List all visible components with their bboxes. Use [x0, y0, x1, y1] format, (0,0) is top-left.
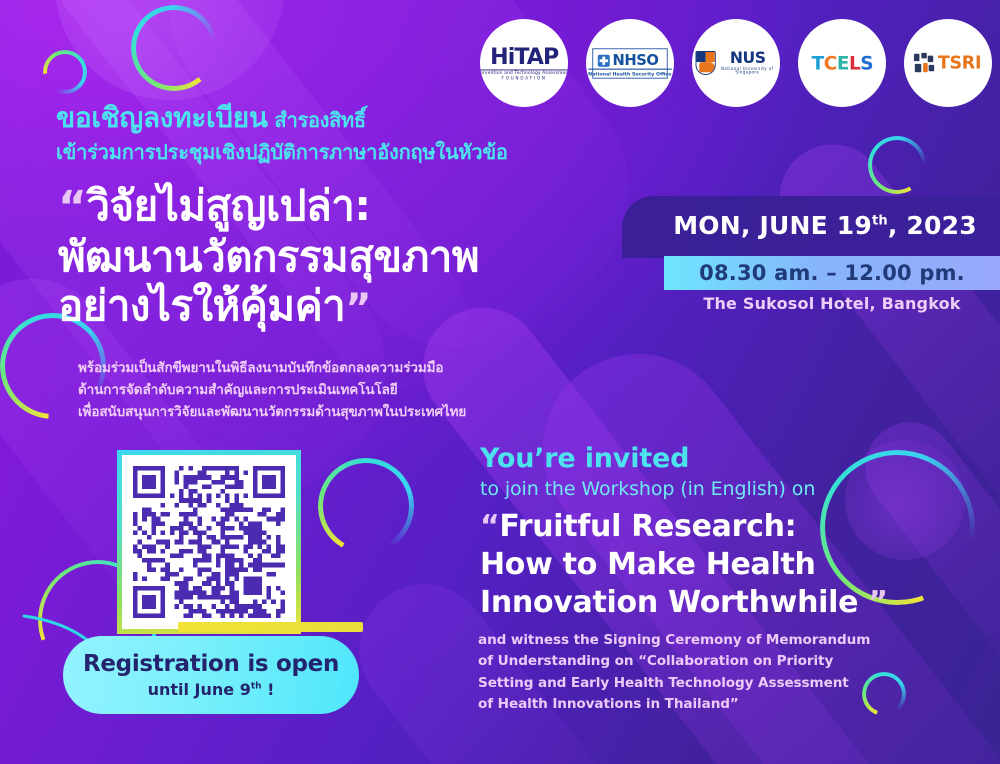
english-para-line3: Setting and Early Health Technology Asse…: [478, 673, 870, 694]
poster-canvas: HiTAP Health Intervention and Technology…: [0, 0, 1000, 764]
thai-para-line2: ด้านการจัดลำดับความสำคัญและการประเมินเทค…: [78, 380, 466, 402]
decorative-ring: [868, 136, 926, 194]
english-para-line2: of Understanding on “Collaboration on Pr…: [478, 651, 870, 672]
logo-nus: NUS National University of Singapore: [692, 19, 780, 107]
thai-description: พร้อมร่วมเป็นสักขีพยานในพิธีลงนามบันทึกข…: [78, 358, 466, 424]
event-venue: The Sukosol Hotel, Bangkok: [664, 294, 1000, 313]
english-title-line1: Fruitful Research:: [499, 509, 796, 544]
english-para-line1: and witness the Signing Ceremony of Memo…: [478, 630, 870, 651]
quote-open-icon: “: [58, 182, 86, 233]
hitap-tag: FOUNDATION: [480, 77, 568, 81]
logo-nhso: NHSO National Health Security Office: [586, 19, 674, 107]
qr-code-inner: [122, 455, 296, 629]
thai-invite-small: สำรองสิทธิ์: [268, 108, 366, 132]
thai-para-line3: เพื่อสนับสนุนการวิจัยและพัฒนานวัตกรรมด้า…: [78, 402, 466, 424]
thai-title-line1: วิจัยไม่สูญเปล่า:: [86, 181, 370, 230]
tsri-wordmark: TSRI: [938, 54, 981, 71]
thai-invite-line1: ขอเชิญลงทะเบียน สำรองสิทธิ์: [56, 100, 508, 135]
thai-title-line2: พัฒนานวัตกรรมสุขภาพ: [58, 233, 479, 282]
registration-line1: Registration is open: [83, 651, 339, 677]
partner-logo-row: HiTAP Health Intervention and Technology…: [480, 19, 992, 107]
english-description: and witness the Signing Ceremony of Memo…: [478, 630, 870, 716]
nhso-subtitle: National Health Security Office: [588, 68, 671, 76]
decorative-ring: [43, 50, 87, 94]
event-time-bar: 08.30 am. – 12.00 pm.: [664, 256, 1000, 290]
quote-open-icon: “: [480, 509, 499, 544]
registration-ordinal: th: [251, 682, 262, 692]
qr-code-frame: [117, 450, 301, 634]
registration-qr-code[interactable]: [133, 466, 285, 618]
decorative-ring: [318, 458, 414, 554]
nus-wordmark: NUS: [730, 49, 766, 67]
thai-title-line3: อย่างไรให้คุ้มค่า: [58, 281, 345, 330]
tsri-mark-icon: [914, 53, 934, 73]
registration-suffix: !: [262, 680, 275, 699]
nhso-wordmark: NHSO: [613, 53, 659, 68]
thai-main-title: “วิจัยไม่สูญเปล่า: พัฒนานวัตกรรมสุขภาพ อ…: [58, 182, 479, 332]
thai-para-line1: พร้อมร่วมเป็นสักขีพยานในพิธีลงนามบันทึกข…: [78, 358, 466, 380]
hitap-subtitle: Health Intervention and Technology Asses…: [480, 71, 568, 75]
english-invited-heading: You’re invited: [480, 443, 689, 474]
quote-close-icon: ”: [345, 286, 371, 332]
event-date-suffix: , 2023: [888, 211, 977, 240]
english-para-line4: of Health Innovations in Thailand”: [478, 694, 870, 715]
decorative-ring: [131, 5, 217, 91]
decorative-stripe: [759, 123, 1000, 526]
english-title-line3: Innovation Worthwhile: [480, 585, 858, 620]
english-main-title: “Fruitful Research: How to Make Health I…: [480, 508, 888, 622]
logo-tcels: TCELS: [798, 19, 886, 107]
registration-badge[interactable]: Registration is open until June 9th !: [63, 636, 359, 714]
thai-invite-main: ขอเชิญลงทะเบียน: [56, 101, 268, 134]
registration-line2: until June 9th !: [148, 680, 275, 699]
hitap-wordmark: HiTAP: [480, 45, 568, 67]
english-subline: to join the Workshop (in English) on: [480, 478, 815, 500]
event-date-prefix: MON, JUNE 19: [673, 211, 872, 240]
event-date: MON, JUNE 19th, 2023: [660, 211, 990, 240]
quote-close-icon: ”: [868, 585, 887, 620]
event-time: 08.30 am. – 12.00 pm.: [699, 261, 965, 285]
logo-hitap: HiTAP Health Intervention and Technology…: [480, 19, 568, 107]
event-date-ordinal: th: [872, 214, 888, 229]
decorative-blob: [55, 0, 285, 100]
medical-cross-icon: [598, 54, 610, 66]
tcels-wordmark: TCELS: [811, 54, 872, 72]
thai-invite-line2: เข้าร่วมการประชุมเชิงปฏิบัติการภาษาอังกฤ…: [56, 136, 508, 168]
nus-subtitle: National University of Singapore: [712, 68, 780, 76]
logo-tsri: TSRI: [904, 19, 992, 107]
thai-invitation-header: ขอเชิญลงทะเบียน สำรองสิทธิ์ เข้าร่วมการป…: [56, 100, 508, 168]
english-title-line2: How to Make Health: [480, 546, 888, 584]
decorative-yellow-bar: [178, 622, 363, 632]
registration-deadline: until June 9: [148, 680, 251, 699]
